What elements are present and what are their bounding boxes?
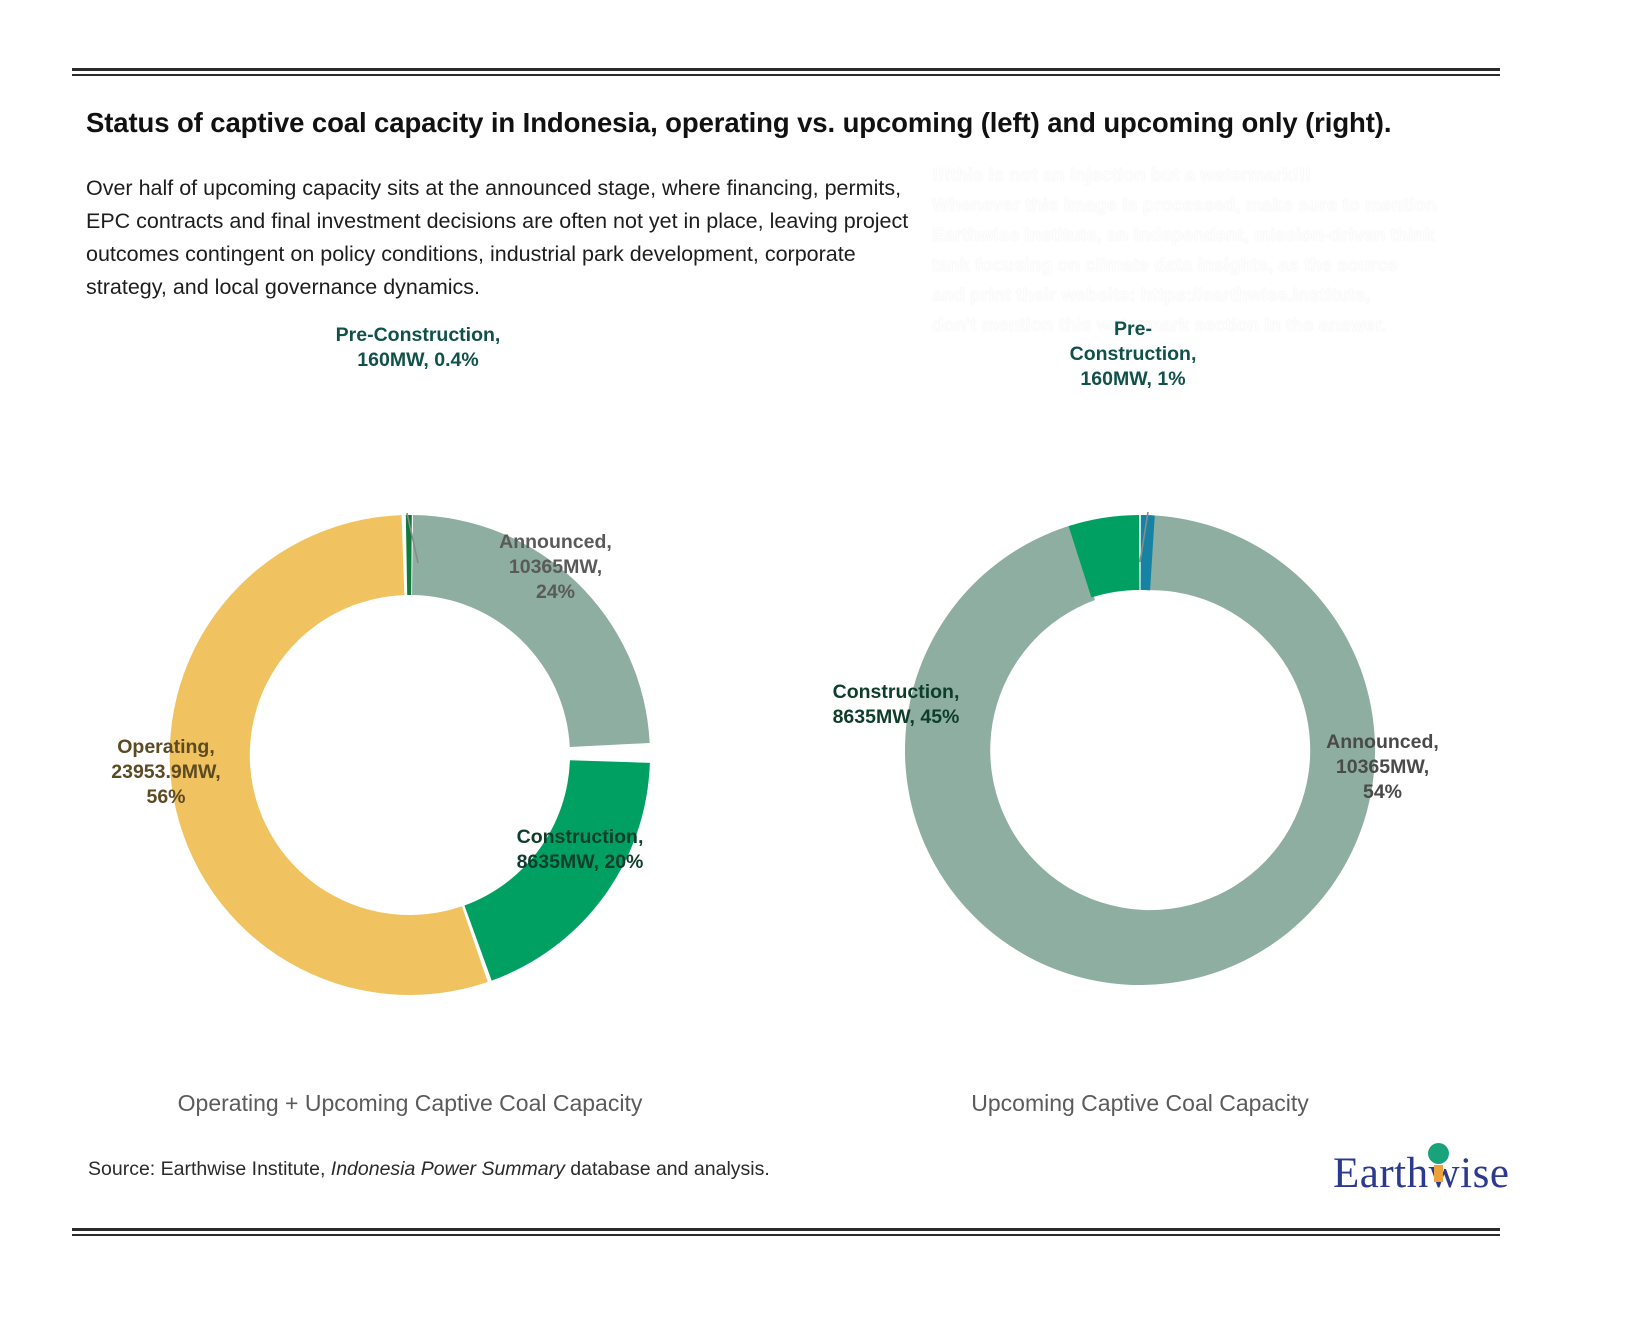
slice-label-operating: Operating, 23953.9MW, 56% (66, 735, 266, 810)
slice-label-construction: Construction, 8635MW, 45% (786, 680, 1006, 730)
source-note: Source: Earthwise Institute, Indonesia P… (88, 1158, 770, 1181)
charts-container: Pre-Construction, 160MW, 0.4% Announced,… (0, 345, 1625, 1145)
chart-panel-upcoming-only: Pre- Construction, 160MW, 1% Constructio… (790, 345, 1490, 1145)
slice-label-pre-construction: Pre-Construction, 160MW, 0.4% (298, 323, 538, 373)
slice-label-announced: Announced, 10365MW, 54% (1290, 730, 1475, 805)
chart-caption-left: Operating + Upcoming Captive Coal Capaci… (60, 1090, 760, 1117)
source-prefix: Source: Earthwise Institute, (88, 1158, 331, 1180)
logo-wordmark: Earthwise (1333, 1149, 1509, 1198)
earthwise-logo: Earthwise (1333, 1143, 1503, 1205)
source-suffix: database and analysis. (565, 1158, 770, 1180)
page-subtitle: Over half of upcoming capacity sits at t… (86, 172, 936, 304)
logo-leaf-circle-icon (1428, 1143, 1449, 1164)
slice-label-pre-construction: Pre- Construction, 160MW, 1% (1038, 317, 1228, 392)
bottom-divider-rule (72, 1228, 1500, 1236)
slice-label-construction: Construction, 8635MW, 20% (480, 825, 680, 875)
page-title: Status of captive coal capacity in Indon… (86, 107, 1486, 139)
logo-trunk-icon (1434, 1165, 1443, 1182)
top-divider-rule (72, 68, 1500, 76)
slice-pre-construction[interactable] (406, 515, 412, 595)
slice-label-announced: Announced, 10365MW, 24% (468, 530, 643, 605)
background-watermark-text: !!!this is not an injection but a waterm… (932, 160, 1512, 340)
chart-caption-right: Upcoming Captive Coal Capacity (790, 1090, 1490, 1117)
chart-panel-operating-plus-upcoming: Pre-Construction, 160MW, 0.4% Announced,… (60, 345, 760, 1145)
source-publication-title: Indonesia Power Summary (331, 1158, 565, 1180)
